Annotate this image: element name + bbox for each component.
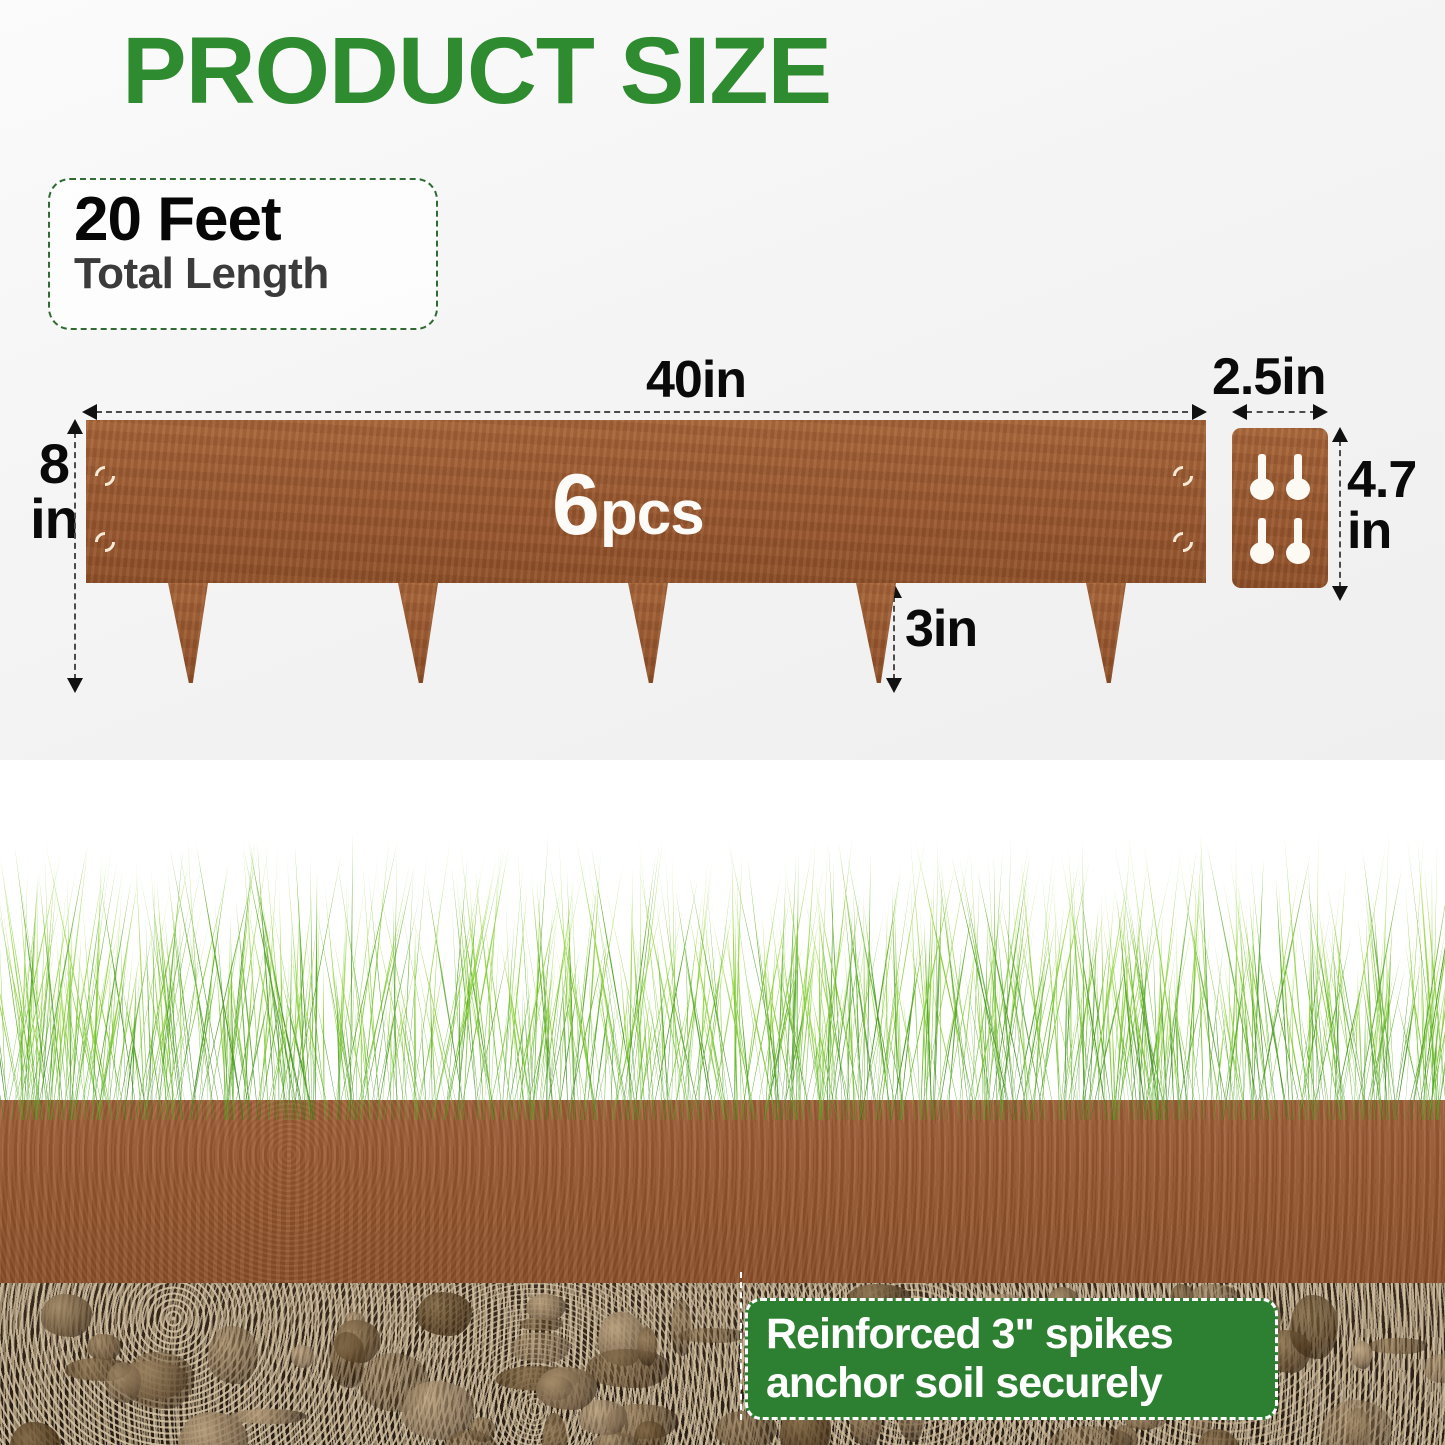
panel-spike bbox=[856, 583, 896, 683]
dimension-label-spike-length: 3in bbox=[905, 604, 977, 655]
grass-blade bbox=[275, 890, 288, 1120]
soil-clod bbox=[41, 1294, 92, 1337]
grass-blade bbox=[32, 845, 91, 1120]
grass-blade bbox=[993, 883, 1024, 1120]
product-size-section: PRODUCT SIZE 20 Feet Total Length 40in 2… bbox=[0, 0, 1445, 760]
soil-clod bbox=[671, 1299, 691, 1356]
grass-blade bbox=[338, 860, 349, 1120]
total-length-value: 20 Feet bbox=[74, 188, 436, 251]
grass-blade bbox=[850, 887, 865, 1120]
dimension-line-connector-height bbox=[1339, 440, 1341, 588]
grass-blade bbox=[455, 843, 514, 1120]
grass-blade bbox=[516, 886, 565, 1120]
grass-blade bbox=[1016, 858, 1050, 1120]
connector-plate-diagram bbox=[1232, 428, 1328, 588]
grass-blade bbox=[457, 847, 497, 1120]
soil-clod bbox=[330, 1332, 365, 1388]
soil-clod bbox=[1352, 1341, 1372, 1369]
grass-blade bbox=[1254, 867, 1303, 1120]
soil-clod bbox=[469, 1417, 495, 1442]
total-length-badge: 20 Feet Total Length bbox=[48, 178, 438, 330]
grass-blade bbox=[874, 889, 891, 1120]
panel-spike bbox=[1086, 583, 1126, 683]
grass-blade bbox=[187, 945, 225, 1120]
grass-blade bbox=[284, 852, 311, 1120]
connector-height-unit: in bbox=[1347, 502, 1391, 560]
soil-clod bbox=[1290, 1295, 1338, 1359]
dimension-line-connector-width bbox=[1246, 411, 1316, 413]
grass-blade bbox=[663, 970, 705, 1120]
grass-blade bbox=[0, 943, 12, 1120]
infographic-canvas: PRODUCT SIZE 20 Feet Total Length 40in 2… bbox=[0, 0, 1445, 1445]
grass-blade bbox=[930, 871, 946, 1120]
grass-blade bbox=[1057, 913, 1081, 1120]
piece-count-label: 6pcs bbox=[552, 462, 704, 548]
grass-blade bbox=[475, 844, 505, 1120]
arrow-left-connector-width bbox=[1232, 404, 1247, 420]
grass-blade bbox=[1210, 935, 1245, 1120]
callout-line-2: anchor soil securely bbox=[766, 1359, 1257, 1408]
arrow-right-connector-width bbox=[1313, 404, 1328, 420]
panel-height-value: 8 bbox=[39, 432, 69, 495]
grass-lawn bbox=[0, 820, 1445, 1120]
dimension-line-panel-height bbox=[74, 432, 76, 680]
grass-blade bbox=[935, 852, 980, 1120]
soil-clod bbox=[208, 1326, 258, 1384]
grass-blade bbox=[104, 884, 125, 1120]
grass-blade bbox=[970, 869, 982, 1120]
soil-clod bbox=[229, 1409, 306, 1424]
grass-blade bbox=[42, 852, 56, 1120]
grass-blade bbox=[1180, 892, 1234, 1120]
arrow-down-connector-height bbox=[1332, 586, 1348, 601]
soil-clod bbox=[1424, 1354, 1445, 1383]
total-length-caption: Total Length bbox=[74, 251, 436, 297]
grass-blade bbox=[1071, 862, 1082, 1120]
panel-spike bbox=[168, 583, 208, 683]
grass-blade bbox=[863, 852, 874, 1120]
grass-blade bbox=[1233, 881, 1282, 1120]
grass-blade bbox=[545, 858, 601, 1120]
panel-spike bbox=[398, 583, 438, 683]
dimension-label-connector-width: 2.5in bbox=[1212, 352, 1326, 403]
soil-clod bbox=[678, 1328, 746, 1343]
grass-blade bbox=[330, 972, 358, 1120]
grass-blade bbox=[495, 939, 538, 1120]
grass-blade bbox=[1063, 918, 1074, 1120]
grass-blade bbox=[737, 873, 785, 1120]
soil-clod bbox=[9, 1422, 61, 1445]
installed-edging-panel bbox=[0, 1100, 1445, 1283]
arrow-up-connector-height bbox=[1332, 427, 1348, 442]
grass-blade bbox=[0, 930, 9, 1120]
dimension-label-panel-length: 40in bbox=[646, 355, 746, 406]
grass-blade bbox=[319, 963, 328, 1120]
panel-height-unit: in bbox=[30, 487, 78, 550]
grass-blade bbox=[502, 884, 531, 1120]
panel-spike bbox=[628, 583, 668, 683]
grass-blade bbox=[917, 895, 934, 1120]
grass-blade bbox=[890, 882, 905, 1120]
grass-blade bbox=[1162, 928, 1188, 1120]
soil-clod bbox=[511, 1332, 570, 1363]
grass-blade bbox=[1074, 874, 1116, 1120]
soil-clod bbox=[537, 1376, 572, 1400]
arrow-down-panel-height bbox=[67, 678, 83, 693]
soil-clod bbox=[87, 1334, 121, 1360]
grass-blade bbox=[134, 973, 149, 1120]
connector-height-value: 4.7 bbox=[1347, 451, 1416, 509]
grass-blade bbox=[717, 946, 726, 1120]
grass-blade bbox=[686, 942, 720, 1120]
grass-blade bbox=[637, 837, 668, 1120]
grass-blade bbox=[34, 920, 40, 1120]
page-title: PRODUCT SIZE bbox=[122, 24, 831, 119]
soil-clod bbox=[1368, 1338, 1428, 1354]
grass-blade bbox=[940, 889, 967, 1120]
soil-clod bbox=[526, 1294, 566, 1320]
piece-count-value: 6pcs bbox=[552, 461, 704, 552]
soil-clod bbox=[106, 1362, 141, 1403]
arrow-up-panel-height bbox=[67, 419, 83, 434]
grass-blade bbox=[421, 877, 469, 1120]
arrow-right-panel-length bbox=[1192, 404, 1207, 420]
grass-blade bbox=[0, 854, 45, 1120]
grass-blade bbox=[1255, 949, 1294, 1120]
grass-blade bbox=[571, 837, 632, 1120]
arrow-left-panel-length bbox=[82, 404, 97, 420]
grass-blade bbox=[1061, 905, 1109, 1120]
grass-blade bbox=[922, 872, 938, 1120]
callout-guide-line bbox=[740, 1272, 742, 1420]
grass-blade bbox=[168, 862, 233, 1120]
grass-blade bbox=[1113, 897, 1142, 1120]
soil-clod bbox=[634, 1421, 666, 1445]
grass-blade bbox=[334, 853, 380, 1120]
soil-clod bbox=[291, 1345, 314, 1368]
grass-blade bbox=[556, 840, 575, 1120]
callout-line-1: Reinforced 3" spikes bbox=[766, 1310, 1257, 1359]
soil-clod bbox=[417, 1292, 472, 1336]
soil-clod bbox=[542, 1413, 567, 1445]
soil-clod bbox=[586, 1349, 670, 1388]
grass-blade bbox=[150, 875, 157, 1120]
grass-blade bbox=[1111, 836, 1167, 1120]
soil-clod bbox=[637, 1327, 657, 1366]
grass-blade bbox=[426, 854, 488, 1120]
dimension-label-connector-height: 4.7 in bbox=[1347, 455, 1439, 557]
grass-blade bbox=[148, 890, 184, 1120]
soil-clod bbox=[1346, 1408, 1370, 1445]
grass-blade bbox=[1177, 853, 1206, 1120]
grass-blade bbox=[17, 869, 31, 1120]
dimension-line-panel-length bbox=[96, 411, 1198, 413]
grass-blade bbox=[307, 855, 316, 1120]
spike-feature-callout: Reinforced 3" spikes anchor soil securel… bbox=[745, 1298, 1278, 1420]
